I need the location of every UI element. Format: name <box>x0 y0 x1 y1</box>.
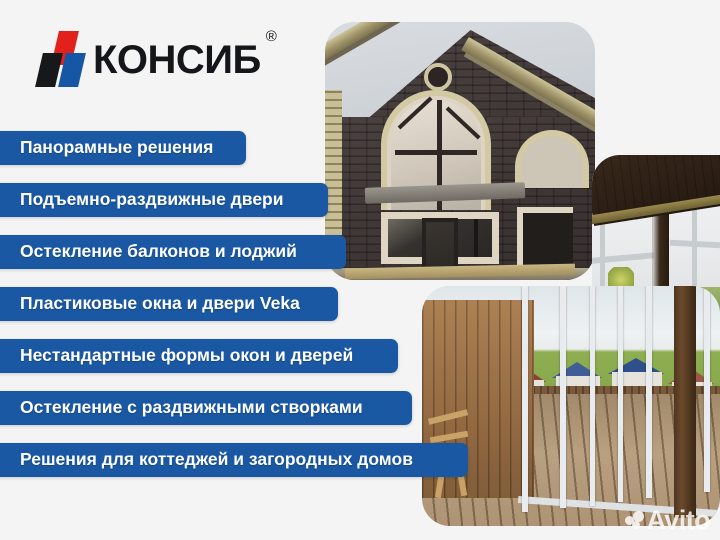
sliding-door-frame <box>618 286 623 502</box>
window-mullion-vertical <box>474 219 478 257</box>
feature-bar-veka-windows[interactable]: Пластиковые окна и двери Veka <box>0 287 338 321</box>
feature-label: Подъемно-раздвижные двери <box>20 191 284 209</box>
photo-glazed-terrace <box>422 286 720 526</box>
brand-name: КОНСИБ <box>93 40 277 80</box>
promo-banner: КОНСИБ ® <box>0 0 720 540</box>
feature-label: Остекление балконов и лоджий <box>20 243 297 261</box>
sliding-door-frame <box>646 286 652 498</box>
sliding-door-frame <box>704 286 710 492</box>
window-mullion-horizontal <box>395 150 477 155</box>
sliding-door-frame <box>560 286 566 508</box>
feature-label: Нестандартные формы окон и дверей <box>20 347 353 365</box>
photo-brick-house-facade <box>325 22 595 280</box>
feature-bar-balcony-glazing[interactable]: Остекление балконов и лоджий <box>0 235 346 269</box>
feature-label: Решения для коттеджей и загородных домов <box>20 451 413 469</box>
feature-bar-cottage-solutions[interactable]: Решения для коттеджей и загородных домов <box>0 443 468 477</box>
chair-slat <box>430 431 468 444</box>
corner-quoin-trim <box>325 90 342 235</box>
feature-bar-lift-slide-doors[interactable]: Подъемно-раздвижные двери <box>0 183 328 217</box>
sliding-door-frame <box>522 286 528 512</box>
round-gable-vent-icon <box>424 63 452 91</box>
sliding-door-frame <box>590 286 595 506</box>
feature-label: Панорамные решения <box>20 139 213 157</box>
registered-trademark-icon: ® <box>266 28 277 45</box>
wooden-support-post <box>674 286 696 518</box>
brand-logo[interactable]: КОНСИБ ® <box>38 30 277 90</box>
feature-label: Пластиковые окна и двери Veka <box>20 295 300 313</box>
feature-bar-panoramic-solutions[interactable]: Панорамные решения <box>0 131 246 165</box>
konsib-logo-mark-icon <box>38 31 84 89</box>
feature-bar-custom-shapes[interactable]: Нестандартные формы окон и дверей <box>0 339 398 373</box>
feature-label: Остекление с раздвижными створками <box>20 399 363 417</box>
feature-bar-sliding-sashes[interactable]: Остекление с раздвижными створками <box>0 391 412 425</box>
